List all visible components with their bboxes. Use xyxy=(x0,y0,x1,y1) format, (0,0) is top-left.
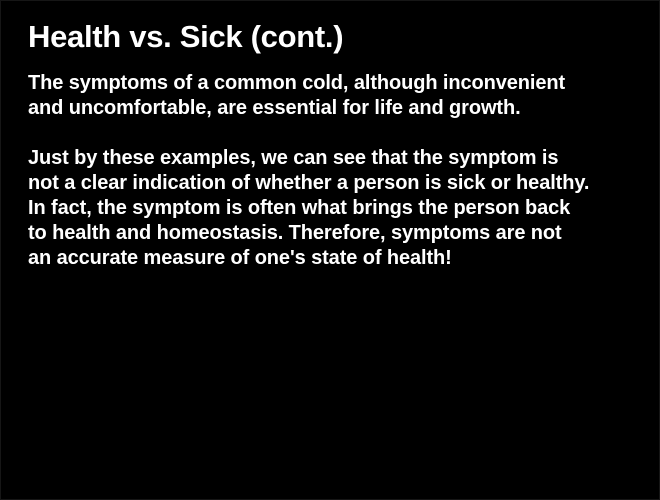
body-paragraph-1: The symptoms of a common cold, although … xyxy=(28,71,643,121)
page-title: Health vs. Sick (cont.) xyxy=(28,19,643,55)
slide-body-text: The symptoms of a common cold, although … xyxy=(28,71,643,271)
paragraph-spacer xyxy=(28,121,643,146)
slide-content: Health vs. Sick (cont.) The symptoms of … xyxy=(28,19,643,271)
slide-canvas: Health vs. Sick (cont.) The symptoms of … xyxy=(0,0,660,500)
body-paragraph-2: Just by these examples, we can see that … xyxy=(28,146,643,271)
